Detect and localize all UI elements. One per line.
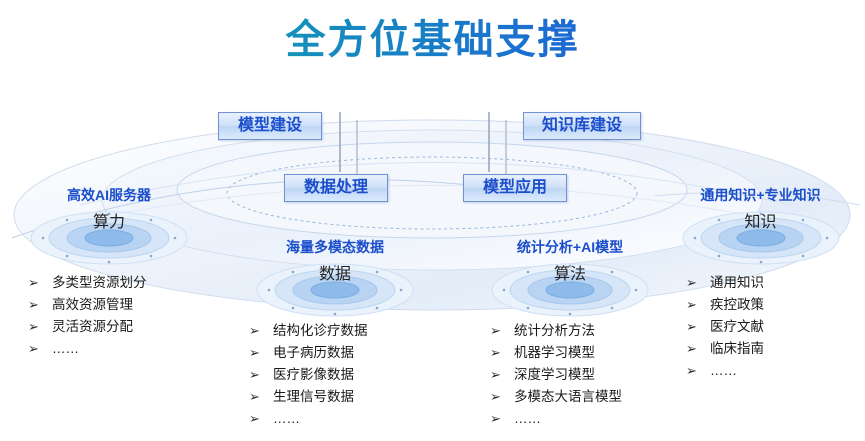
list-item: ➢疾控政策 bbox=[684, 294, 863, 316]
pill-data-processing[interactable]: 数据处理 bbox=[284, 174, 388, 202]
list-item: ➢临床指南 bbox=[684, 338, 863, 360]
column-algorithm: 统计分析+AI模型 算法 ➢统计分析方法 ➢机器学习模型 ➢深度学习模型 ➢多模… bbox=[470, 238, 670, 430]
list-item: ➢医疗影像数据 bbox=[247, 364, 435, 386]
bullet-arrow-icon: ➢ bbox=[686, 338, 697, 360]
list-item-label: 灵活资源分配 bbox=[52, 319, 133, 334]
column-data-node-label: 数据 bbox=[235, 264, 435, 286]
list-item-label: 通用知识 bbox=[710, 275, 764, 290]
list-item: ➢电子病历数据 bbox=[247, 342, 435, 364]
list-item: ➢多类型资源划分 bbox=[26, 272, 204, 294]
bullet-arrow-icon: ➢ bbox=[490, 408, 501, 430]
list-item-label: 生理信号数据 bbox=[273, 389, 354, 404]
list-item: ➢医疗文献 bbox=[684, 316, 863, 338]
bullet-arrow-icon: ➢ bbox=[490, 320, 501, 342]
column-knowledge-node-label: 知识 bbox=[658, 212, 863, 234]
bullet-arrow-icon: ➢ bbox=[249, 408, 260, 430]
column-algorithm-node-label: 算法 bbox=[470, 264, 670, 286]
column-data-heading: 海量多模态数据 bbox=[235, 238, 435, 256]
list-item: ➢通用知识 bbox=[684, 272, 863, 294]
list-item-label: 机器学习模型 bbox=[514, 345, 595, 360]
list-item: ➢高效资源管理 bbox=[26, 294, 204, 316]
list-item: ➢…… bbox=[684, 360, 863, 382]
list-item-label: 结构化诊疗数据 bbox=[273, 323, 368, 338]
pill-model-application[interactable]: 模型应用 bbox=[463, 174, 567, 202]
list-item-label: 疾控政策 bbox=[710, 297, 764, 312]
bullet-arrow-icon: ➢ bbox=[249, 364, 260, 386]
column-compute: 高效AI服务器 算力 ➢多类型资源划分 ➢高效资源管理 ➢灵活资源分配 ➢…… bbox=[14, 186, 204, 360]
list-item: ➢多模态大语言模型 bbox=[488, 386, 670, 408]
column-knowledge: 通用知识+专业知识 知识 ➢通用知识 ➢疾控政策 ➢医疗文献 ➢临床指南 ➢…… bbox=[658, 186, 863, 382]
list-item-label: 多类型资源划分 bbox=[52, 275, 147, 290]
list-item: ➢结构化诊疗数据 bbox=[247, 320, 435, 342]
list-item-label: …… bbox=[514, 411, 541, 426]
column-compute-bullets: ➢多类型资源划分 ➢高效资源管理 ➢灵活资源分配 ➢…… bbox=[26, 272, 204, 360]
pill-knowledge-base-build[interactable]: 知识库建设 bbox=[523, 112, 641, 140]
column-data: 海量多模态数据 数据 ➢结构化诊疗数据 ➢电子病历数据 ➢医疗影像数据 ➢生理信… bbox=[235, 238, 435, 430]
column-knowledge-heading: 通用知识+专业知识 bbox=[658, 186, 863, 204]
list-item-label: …… bbox=[273, 411, 300, 426]
bullet-arrow-icon: ➢ bbox=[686, 360, 697, 382]
list-item: ➢…… bbox=[488, 408, 670, 430]
column-data-bullets: ➢结构化诊疗数据 ➢电子病历数据 ➢医疗影像数据 ➢生理信号数据 ➢…… bbox=[247, 320, 435, 430]
column-compute-node-label: 算力 bbox=[14, 212, 204, 234]
bullet-arrow-icon: ➢ bbox=[490, 342, 501, 364]
bullet-arrow-icon: ➢ bbox=[28, 338, 39, 360]
slide-canvas: 全方位基础支撑 模型建设 知识库建设 数据处理 模型应用 高效AI服务器 算力 … bbox=[0, 0, 865, 441]
list-item-label: 深度学习模型 bbox=[514, 367, 595, 382]
list-item-label: 电子病历数据 bbox=[273, 345, 354, 360]
bullet-arrow-icon: ➢ bbox=[28, 272, 39, 294]
column-algorithm-bullets: ➢统计分析方法 ➢机器学习模型 ➢深度学习模型 ➢多模态大语言模型 ➢…… bbox=[488, 320, 670, 430]
bullet-arrow-icon: ➢ bbox=[686, 272, 697, 294]
list-item-label: 医疗影像数据 bbox=[273, 367, 354, 382]
list-item-label: 高效资源管理 bbox=[52, 297, 133, 312]
list-item: ➢生理信号数据 bbox=[247, 386, 435, 408]
pill-model-build[interactable]: 模型建设 bbox=[218, 112, 322, 140]
list-item-label: …… bbox=[710, 363, 737, 378]
bullet-arrow-icon: ➢ bbox=[28, 294, 39, 316]
list-item: ➢机器学习模型 bbox=[488, 342, 670, 364]
bullet-arrow-icon: ➢ bbox=[490, 386, 501, 408]
bullet-arrow-icon: ➢ bbox=[249, 320, 260, 342]
bullet-arrow-icon: ➢ bbox=[249, 386, 260, 408]
column-compute-node: 算力 bbox=[14, 204, 204, 260]
list-item-label: 统计分析方法 bbox=[514, 323, 595, 338]
column-knowledge-node: 知识 bbox=[658, 204, 863, 260]
slide-title: 全方位基础支撑 bbox=[0, 12, 865, 68]
column-compute-heading: 高效AI服务器 bbox=[14, 186, 204, 204]
list-item: ➢…… bbox=[247, 408, 435, 430]
list-item-label: 临床指南 bbox=[710, 341, 764, 356]
list-item: ➢灵活资源分配 bbox=[26, 316, 204, 338]
list-item: ➢…… bbox=[26, 338, 204, 360]
column-algorithm-heading: 统计分析+AI模型 bbox=[470, 238, 670, 256]
bullet-arrow-icon: ➢ bbox=[249, 342, 260, 364]
bullet-arrow-icon: ➢ bbox=[490, 364, 501, 386]
list-item: ➢深度学习模型 bbox=[488, 364, 670, 386]
bullet-arrow-icon: ➢ bbox=[686, 316, 697, 338]
column-knowledge-bullets: ➢通用知识 ➢疾控政策 ➢医疗文献 ➢临床指南 ➢…… bbox=[684, 272, 863, 382]
list-item: ➢统计分析方法 bbox=[488, 320, 670, 342]
list-item-label: 多模态大语言模型 bbox=[514, 389, 622, 404]
column-data-node: 数据 bbox=[235, 256, 435, 312]
list-item-label: …… bbox=[52, 341, 79, 356]
list-item-label: 医疗文献 bbox=[710, 319, 764, 334]
bullet-arrow-icon: ➢ bbox=[686, 294, 697, 316]
bullet-arrow-icon: ➢ bbox=[28, 316, 39, 338]
column-algorithm-node: 算法 bbox=[470, 256, 670, 312]
